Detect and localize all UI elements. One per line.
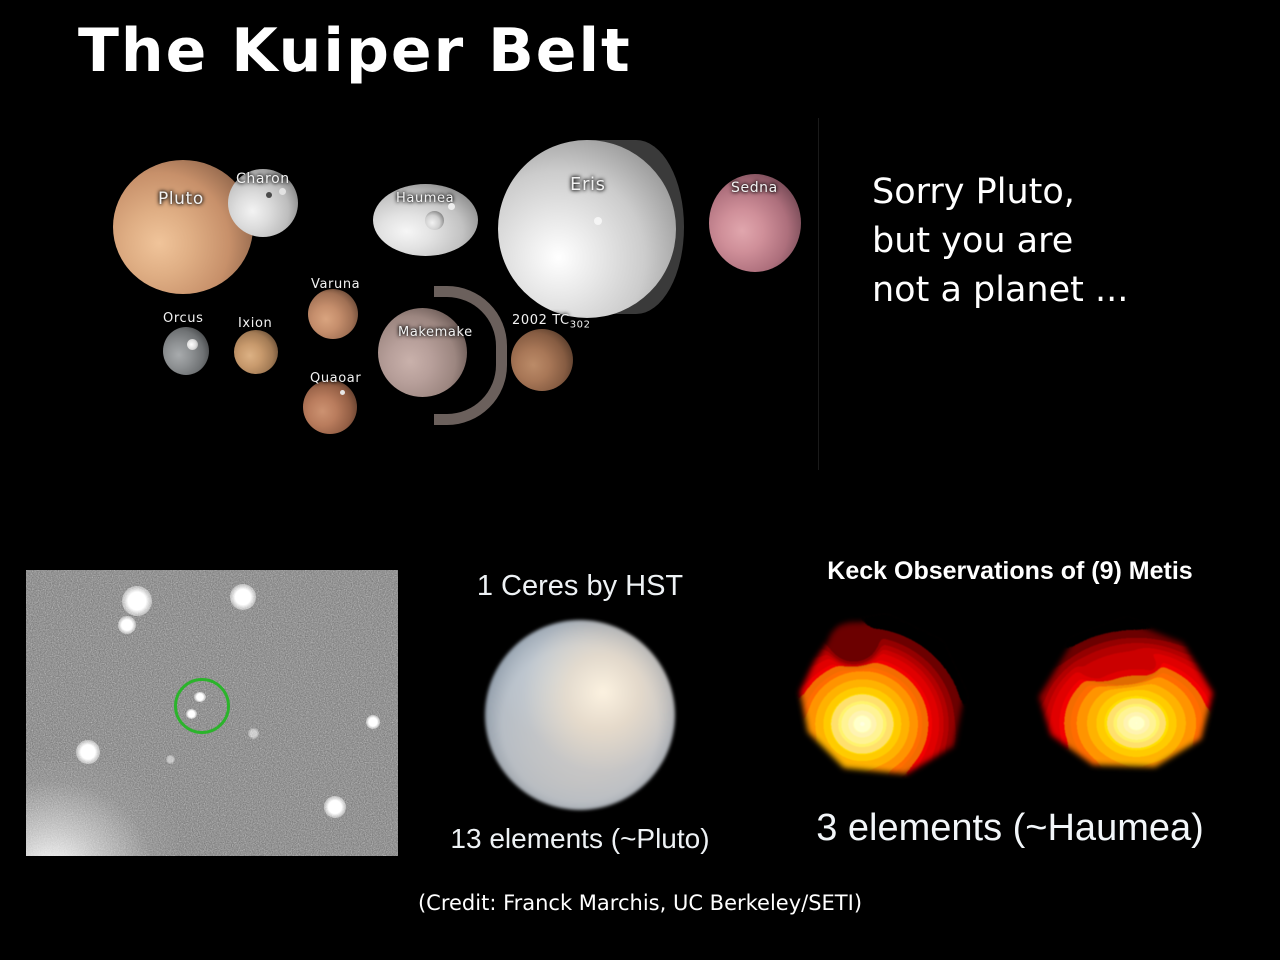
body-makemake [378, 308, 467, 397]
moon-nix [266, 192, 272, 198]
body-ixion [234, 330, 278, 374]
body-pluto [113, 160, 253, 294]
credit-line: (Credit: Franck Marchis, UC Berkeley/SET… [0, 891, 1280, 915]
ccd-discovery-image [26, 570, 398, 856]
ceres-disk-image [485, 620, 675, 810]
ceres-title: 1 Ceres by HST [430, 570, 730, 603]
moon-namaka [448, 203, 455, 210]
target-marker-circle [174, 678, 230, 734]
ccd-star [76, 740, 100, 764]
metis-title: Keck Observations of (9) Metis [760, 557, 1260, 586]
body-label-charon: Charon [236, 171, 290, 187]
ccd-star [230, 584, 256, 610]
metis-panel: Keck Observations of (9) Metis [760, 555, 1260, 865]
body-label-quaoar: Quaoar [310, 371, 361, 386]
body-2002tc302 [511, 329, 573, 391]
metis-caption: 3 elements (~Haumea) [760, 807, 1260, 850]
moon-weywot [340, 390, 345, 395]
body-label-pluto: Pluto [158, 189, 204, 209]
moon-vanth [187, 339, 198, 350]
ccd-bright-halo [26, 761, 176, 856]
metis-image-right [1015, 605, 1230, 800]
quip-line-3: not a planet ... [872, 266, 1262, 315]
page-title: The Kuiper Belt [78, 16, 632, 86]
body-varuna [308, 289, 358, 339]
body-eris [498, 140, 676, 318]
moon-hiiaka [425, 211, 444, 230]
body-label-varuna: Varuna [311, 277, 360, 292]
quip-text: Sorry Pluto, but you are not a planet ..… [872, 168, 1262, 315]
body-orcus [163, 327, 209, 375]
body-label-orcus: Orcus [163, 311, 203, 326]
body-label-haumea: Haumea [396, 191, 454, 206]
body-quaoar [303, 380, 357, 434]
ceres-panel: 1 Ceres by HST 13 elements (~Pluto) [430, 565, 730, 865]
body-label-sedna: Sedna [731, 180, 778, 196]
body-label-2002tc302: 2002 TC302 [512, 313, 591, 331]
moon-dysnomia [594, 217, 602, 225]
body-label-ixion: Ixion [238, 316, 272, 331]
quip-line-2: but you are [872, 217, 1262, 266]
body-label-2002tc302-main: 2002 TC [512, 313, 570, 328]
ccd-star [118, 616, 136, 634]
moon-hydra [279, 188, 286, 195]
body-label-2002tc302-subscript: 302 [570, 320, 591, 331]
ccd-star [122, 586, 152, 616]
body-label-makemake: Makemake [398, 325, 473, 340]
ccd-star [248, 728, 259, 739]
ccd-star [324, 796, 346, 818]
ccd-star [166, 755, 175, 764]
metis-image-left [778, 600, 988, 800]
slide-canvas: The Kuiper Belt Pluto Charon Haumea Eris… [0, 0, 1280, 960]
quip-line-1: Sorry Pluto, [872, 168, 1262, 217]
ccd-star [366, 715, 380, 729]
kbo-size-comparison-figure: Pluto Charon Haumea Eris Sedna Makemake … [0, 118, 819, 470]
ceres-caption: 13 elements (~Pluto) [420, 823, 740, 855]
body-label-eris: Eris [570, 174, 606, 195]
